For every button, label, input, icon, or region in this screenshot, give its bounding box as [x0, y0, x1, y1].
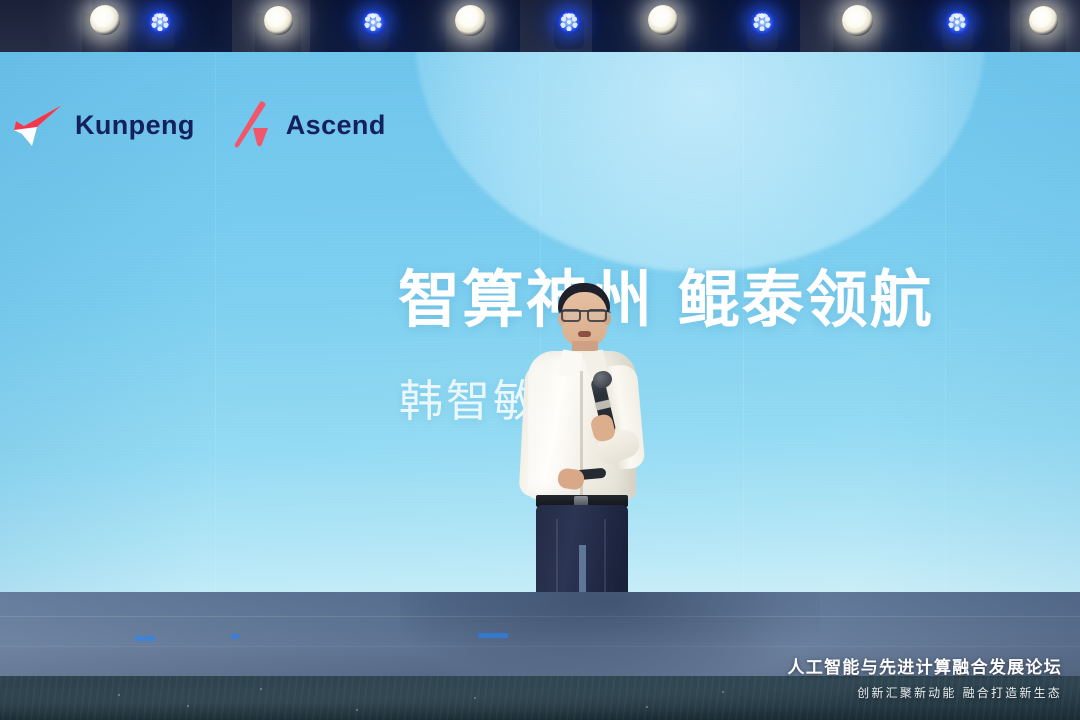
foreground-speck [474, 697, 476, 699]
conference-stage-photo: Kunpeng Ascend 智算神州 鲲泰领航 韩智敏 [0, 0, 1080, 720]
ascend-a-mark-icon [229, 100, 275, 150]
kunpeng-bird-mark-icon [10, 100, 64, 150]
foreground-speck [646, 706, 648, 708]
ascend-logo-lockup: Ascend [229, 100, 386, 150]
glasses-lens-left [561, 309, 581, 322]
kunpeng-logo-lockup: Kunpeng [10, 100, 195, 150]
spotlight-icon [648, 5, 678, 35]
stage-lighting-truss [0, 0, 1080, 58]
forum-title: 人工智能与先进计算融合发展论坛 [788, 658, 1063, 679]
spotlight-icon [1029, 6, 1058, 35]
truss-panel [0, 0, 92, 58]
floor-tape-mark [231, 634, 239, 639]
presentation-headline: 智算神州 鲲泰领航 [398, 266, 934, 334]
forum-caption-overlay: 人工智能与先进计算融合发展论坛 创新汇聚新动能 融合打造新生态 [788, 658, 1063, 701]
blue-led-wash-icon [148, 10, 172, 34]
kunpeng-wordmark: Kunpeng [75, 110, 195, 141]
glasses-lens-right [587, 309, 607, 322]
spotlight-icon [455, 5, 486, 36]
spotlight-icon [264, 6, 293, 35]
forum-subtitle: 创新汇聚新动能 融合打造新生态 [788, 684, 1063, 701]
floor-tape-mark [478, 633, 508, 638]
floor-seam-line [0, 616, 1080, 617]
floor-tape-mark [135, 636, 155, 641]
foreground-speck [187, 705, 189, 707]
ascend-wordmark: Ascend [286, 110, 386, 141]
foreground-speck [722, 691, 724, 693]
blue-led-wash-icon [945, 10, 970, 35]
foreground-speck [118, 694, 120, 696]
brand-logo-bar: Kunpeng Ascend [10, 100, 386, 150]
spotlight-icon [842, 5, 873, 36]
speaker-floor-shadow [400, 592, 820, 678]
spotlight-icon [90, 5, 120, 35]
blue-led-wash-icon [557, 10, 581, 34]
foreground-speck [356, 709, 358, 711]
foreground-speck [260, 688, 262, 690]
blue-led-wash-icon [750, 10, 775, 35]
speaker-mouth [578, 331, 591, 337]
blue-led-wash-icon [361, 10, 386, 35]
floor-seam-line [0, 646, 1080, 647]
